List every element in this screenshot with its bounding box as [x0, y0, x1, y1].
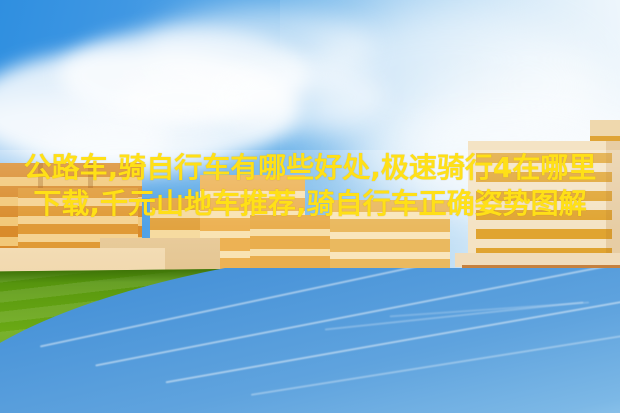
banner-title: 公路车,骑自行车有哪些好处,极速骑行4在哪里下载,千元山地车推荐,骑自行车正确姿…: [0, 150, 620, 222]
river-flow-line: [251, 328, 620, 396]
banner-image: 公路车,骑自行车有哪些好处,极速骑行4在哪里下载,千元山地车推荐,骑自行车正确姿…: [0, 0, 620, 413]
river-flow-line: [390, 301, 590, 317]
river: [0, 268, 620, 413]
river-surface: [0, 268, 620, 413]
